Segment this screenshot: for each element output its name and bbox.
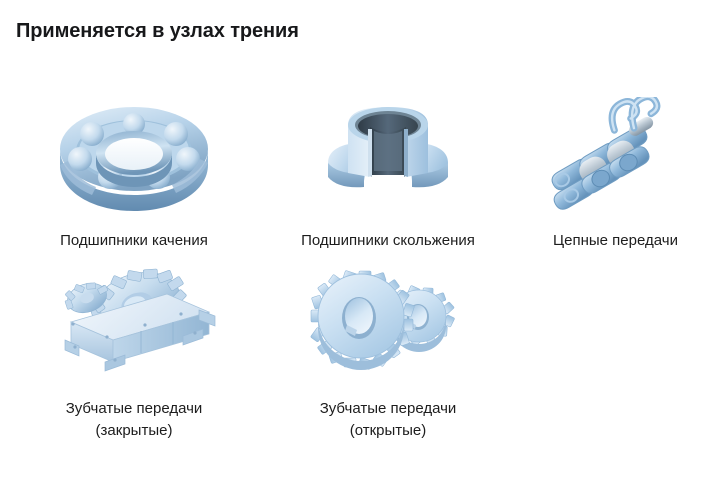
part-card-roller-chain[interactable]: Цепные передачи xyxy=(508,96,723,264)
spur-gears-open-figure xyxy=(268,264,508,376)
parts-row: Подшипники качения xyxy=(0,96,723,264)
part-card-gearbox-closed[interactable]: Зубчатые передачи (закрытые) xyxy=(0,264,268,454)
page-title: Применяется в узлах трения xyxy=(16,20,299,43)
part-label: Зубчатые передачи (закрытые) xyxy=(66,398,203,442)
gearbox-closed-figure xyxy=(0,264,268,376)
large-gear xyxy=(310,270,414,370)
parts-row: Зубчатые передачи (закрытые) xyxy=(0,264,723,454)
roller-chain-icon xyxy=(546,97,686,215)
rolling-bearing-icon xyxy=(54,97,214,215)
plain-bearing-icon xyxy=(318,97,458,215)
roller-chain-figure xyxy=(508,96,723,216)
part-card-spur-gears-open[interactable]: Зубчатые передачи (открытые) xyxy=(268,264,508,454)
plain-bearing-figure xyxy=(268,96,508,216)
part-card-rolling-bearing[interactable]: Подшипники качения xyxy=(0,96,268,264)
rolling-bearing-figure xyxy=(0,96,268,216)
infographic-page: Применяется в узлах трения xyxy=(0,0,723,492)
part-label: Подшипники скольжения xyxy=(301,230,475,252)
part-card-plain-bearing[interactable]: Подшипники скольжения xyxy=(268,96,508,264)
parts-grid: Подшипники качения xyxy=(0,96,723,454)
empty-cell xyxy=(508,264,723,454)
part-label: Цепные передачи xyxy=(553,230,678,252)
gearbox-closed-icon xyxy=(49,264,219,376)
part-label: Зубчатые передачи (открытые) xyxy=(320,398,457,442)
spur-gears-open-icon xyxy=(303,264,473,376)
part-label: Подшипники качения xyxy=(60,230,208,252)
